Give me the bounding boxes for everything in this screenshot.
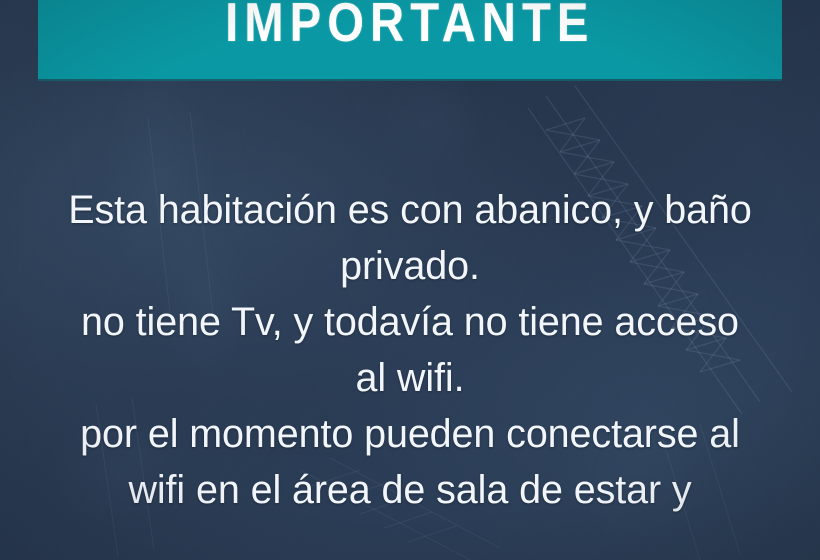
message-line: Esta habitación es con abanico, y baño	[20, 182, 800, 238]
message-line: al wifi.	[20, 350, 800, 406]
message-line: por el momento pueden conectarse al	[20, 406, 800, 462]
message-line: wifi en el área de sala de estar y	[20, 462, 800, 518]
page-title: IMPORTANTE	[225, 0, 594, 79]
importante-banner: IMPORTANTE	[38, 0, 782, 79]
notice-message: Esta habitación es con abanico, y baño p…	[20, 182, 800, 518]
poster-canvas: IMPORTANTE Esta habitación es con abanic…	[0, 0, 820, 560]
message-line: privado.	[20, 238, 800, 294]
message-line: no tiene Tv, y todavía no tiene acceso	[20, 294, 800, 350]
